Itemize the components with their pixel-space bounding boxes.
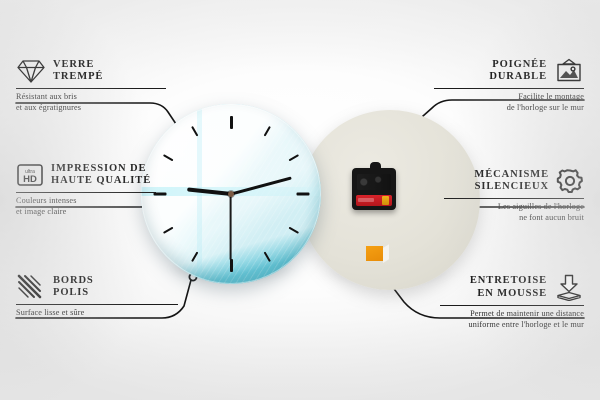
- hour-tick-3: [296, 193, 309, 196]
- callout-header: ultra HD IMPRESSION DE HAUTE QUALITÉ: [16, 162, 156, 188]
- callout-rule: [16, 192, 156, 193]
- callout-rule: [434, 88, 584, 89]
- callout-title: MÉCANISME SILENCIEUX: [474, 169, 549, 194]
- callout-title: IMPRESSION DE HAUTE QUALITÉ: [51, 163, 151, 188]
- callout-rule: [16, 304, 178, 305]
- clock-hands-hub: [228, 191, 234, 197]
- hour-tick-6: [230, 259, 233, 272]
- callout-verre-trempe[interactable]: VERRE TREMPÉ Résistant aux bris et aux é…: [16, 58, 166, 113]
- callout-header: BORDS POLIS: [16, 274, 178, 300]
- infographic-canvas: VERRE TREMPÉ Résistant aux bris et aux é…: [0, 0, 600, 400]
- callout-header: VERRE TREMPÉ: [16, 58, 166, 84]
- foam-spacer-arrow-icon: [554, 274, 584, 301]
- callout-title: ENTRETOISE EN MOUSSE: [470, 275, 547, 300]
- polished-edges-icon: [16, 274, 46, 300]
- mechanism-housing-detail: [357, 174, 391, 190]
- callout-description: Résistant aux bris et aux égratignures: [16, 92, 166, 113]
- callout-description: Surface lisse et sûre: [16, 308, 178, 319]
- foam-spacer: [366, 246, 383, 261]
- clock-mechanism: [352, 168, 396, 210]
- callout-description: Les aiguilles de l'horloge ne font aucun…: [444, 202, 584, 223]
- callout-rule: [16, 88, 166, 89]
- callout-description: Facilite le montage de l'horloge sur le …: [434, 92, 584, 113]
- callout-rule: [440, 305, 584, 306]
- callout-title: POIGNÉE DURABLE: [489, 59, 547, 84]
- callout-header: MÉCANISME SILENCIEUX: [444, 168, 584, 194]
- callout-title: VERRE TREMPÉ: [53, 59, 103, 84]
- callout-poignee-durable[interactable]: POIGNÉE DURABLE Facilite le montage de l…: [434, 58, 584, 113]
- callout-impression-haute-qualite[interactable]: ultra HD IMPRESSION DE HAUTE QUALITÉ Cou…: [16, 162, 156, 217]
- picture-hanger-icon: [554, 58, 584, 84]
- diamond-icon: [16, 58, 46, 84]
- second-hand: [230, 194, 232, 260]
- callout-mecanisme-silencieux[interactable]: MÉCANISME SILENCIEUX Les aiguilles de l'…: [444, 168, 584, 223]
- clock-face: [141, 104, 321, 284]
- callout-entretoise-en-mousse[interactable]: ENTRETOISE EN MOUSSE Permet de maintenir…: [440, 274, 584, 330]
- ultra-hd-badge-icon: ultra HD: [16, 162, 44, 188]
- svg-text:HD: HD: [23, 174, 37, 185]
- battery: [356, 195, 392, 206]
- mechanism-hanger-tab: [370, 162, 381, 170]
- callout-bords-polis[interactable]: BORDS POLIS Surface lisse et sûre: [16, 274, 178, 319]
- callout-header: POIGNÉE DURABLE: [434, 58, 584, 84]
- gear-icon: [556, 168, 584, 194]
- callout-description: Permet de maintenir une distance uniform…: [440, 309, 584, 330]
- hour-tick-12: [230, 116, 233, 129]
- callout-title: BORDS POLIS: [53, 275, 94, 300]
- callout-rule: [444, 198, 584, 199]
- callout-description: Couleurs intenses et image claire: [16, 196, 156, 217]
- callout-header: ENTRETOISE EN MOUSSE: [440, 274, 584, 301]
